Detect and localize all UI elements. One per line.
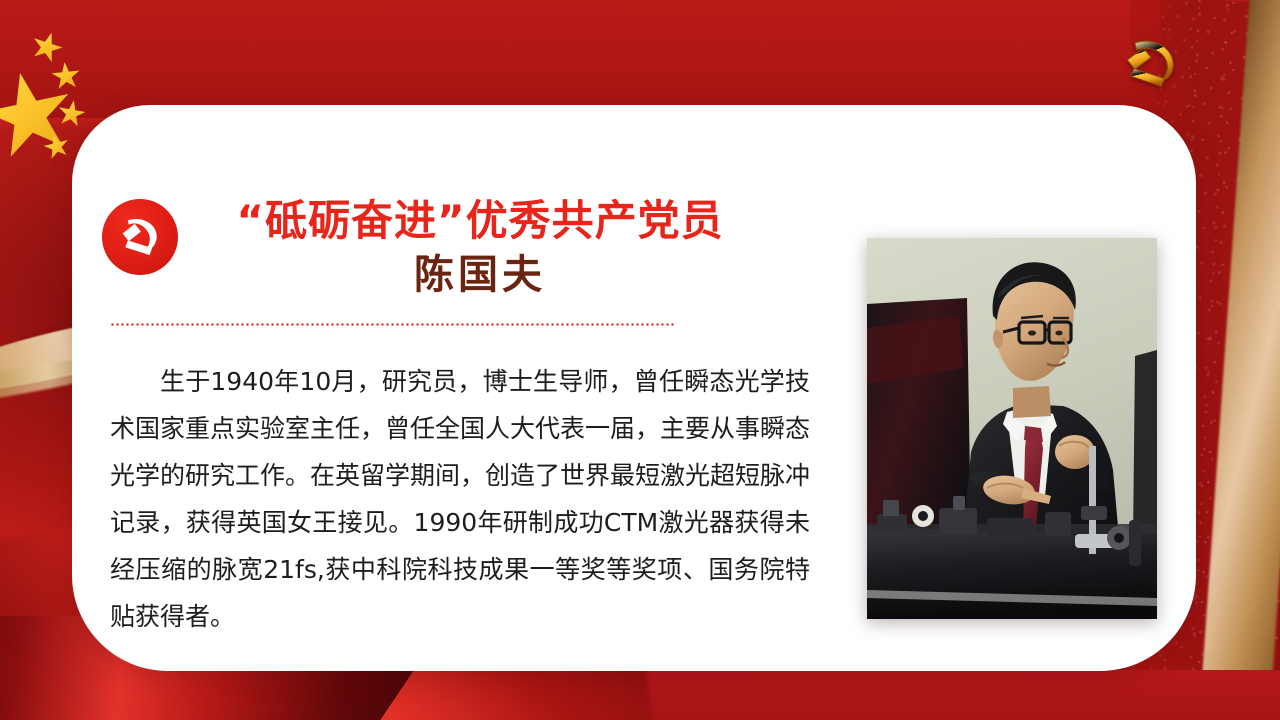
content-card: “砥砺奋进”优秀共产党员 陈国夫 生于1940年10月，研究员，博士生导师，曾任…	[72, 105, 1196, 671]
biography-text: 生于1940年10月，研究员，博士生导师，曾任瞬态光学技术国家重点实验室主任，曾…	[110, 358, 810, 640]
portrait-photo-image	[867, 238, 1157, 619]
person-name: 陈国夫	[190, 248, 770, 302]
party-roundel-icon	[102, 199, 178, 275]
page-title: “砥砺奋进”优秀共产党员	[190, 197, 770, 244]
portrait-photo	[867, 238, 1157, 619]
flag-star-small-1-icon	[28, 28, 66, 66]
title-block: “砥砺奋进”优秀共产党员 陈国夫	[190, 197, 770, 302]
dotted-divider	[110, 323, 676, 326]
slide-root: “砥砺奋进”优秀共产党员 陈国夫 生于1940年10月，研究员，博士生导师，曾任…	[0, 0, 1280, 720]
gold-hammer-sickle-emblem-icon	[1108, 26, 1194, 94]
flag-star-small-3-icon	[56, 98, 87, 129]
flag-star-small-2-icon	[51, 61, 82, 92]
